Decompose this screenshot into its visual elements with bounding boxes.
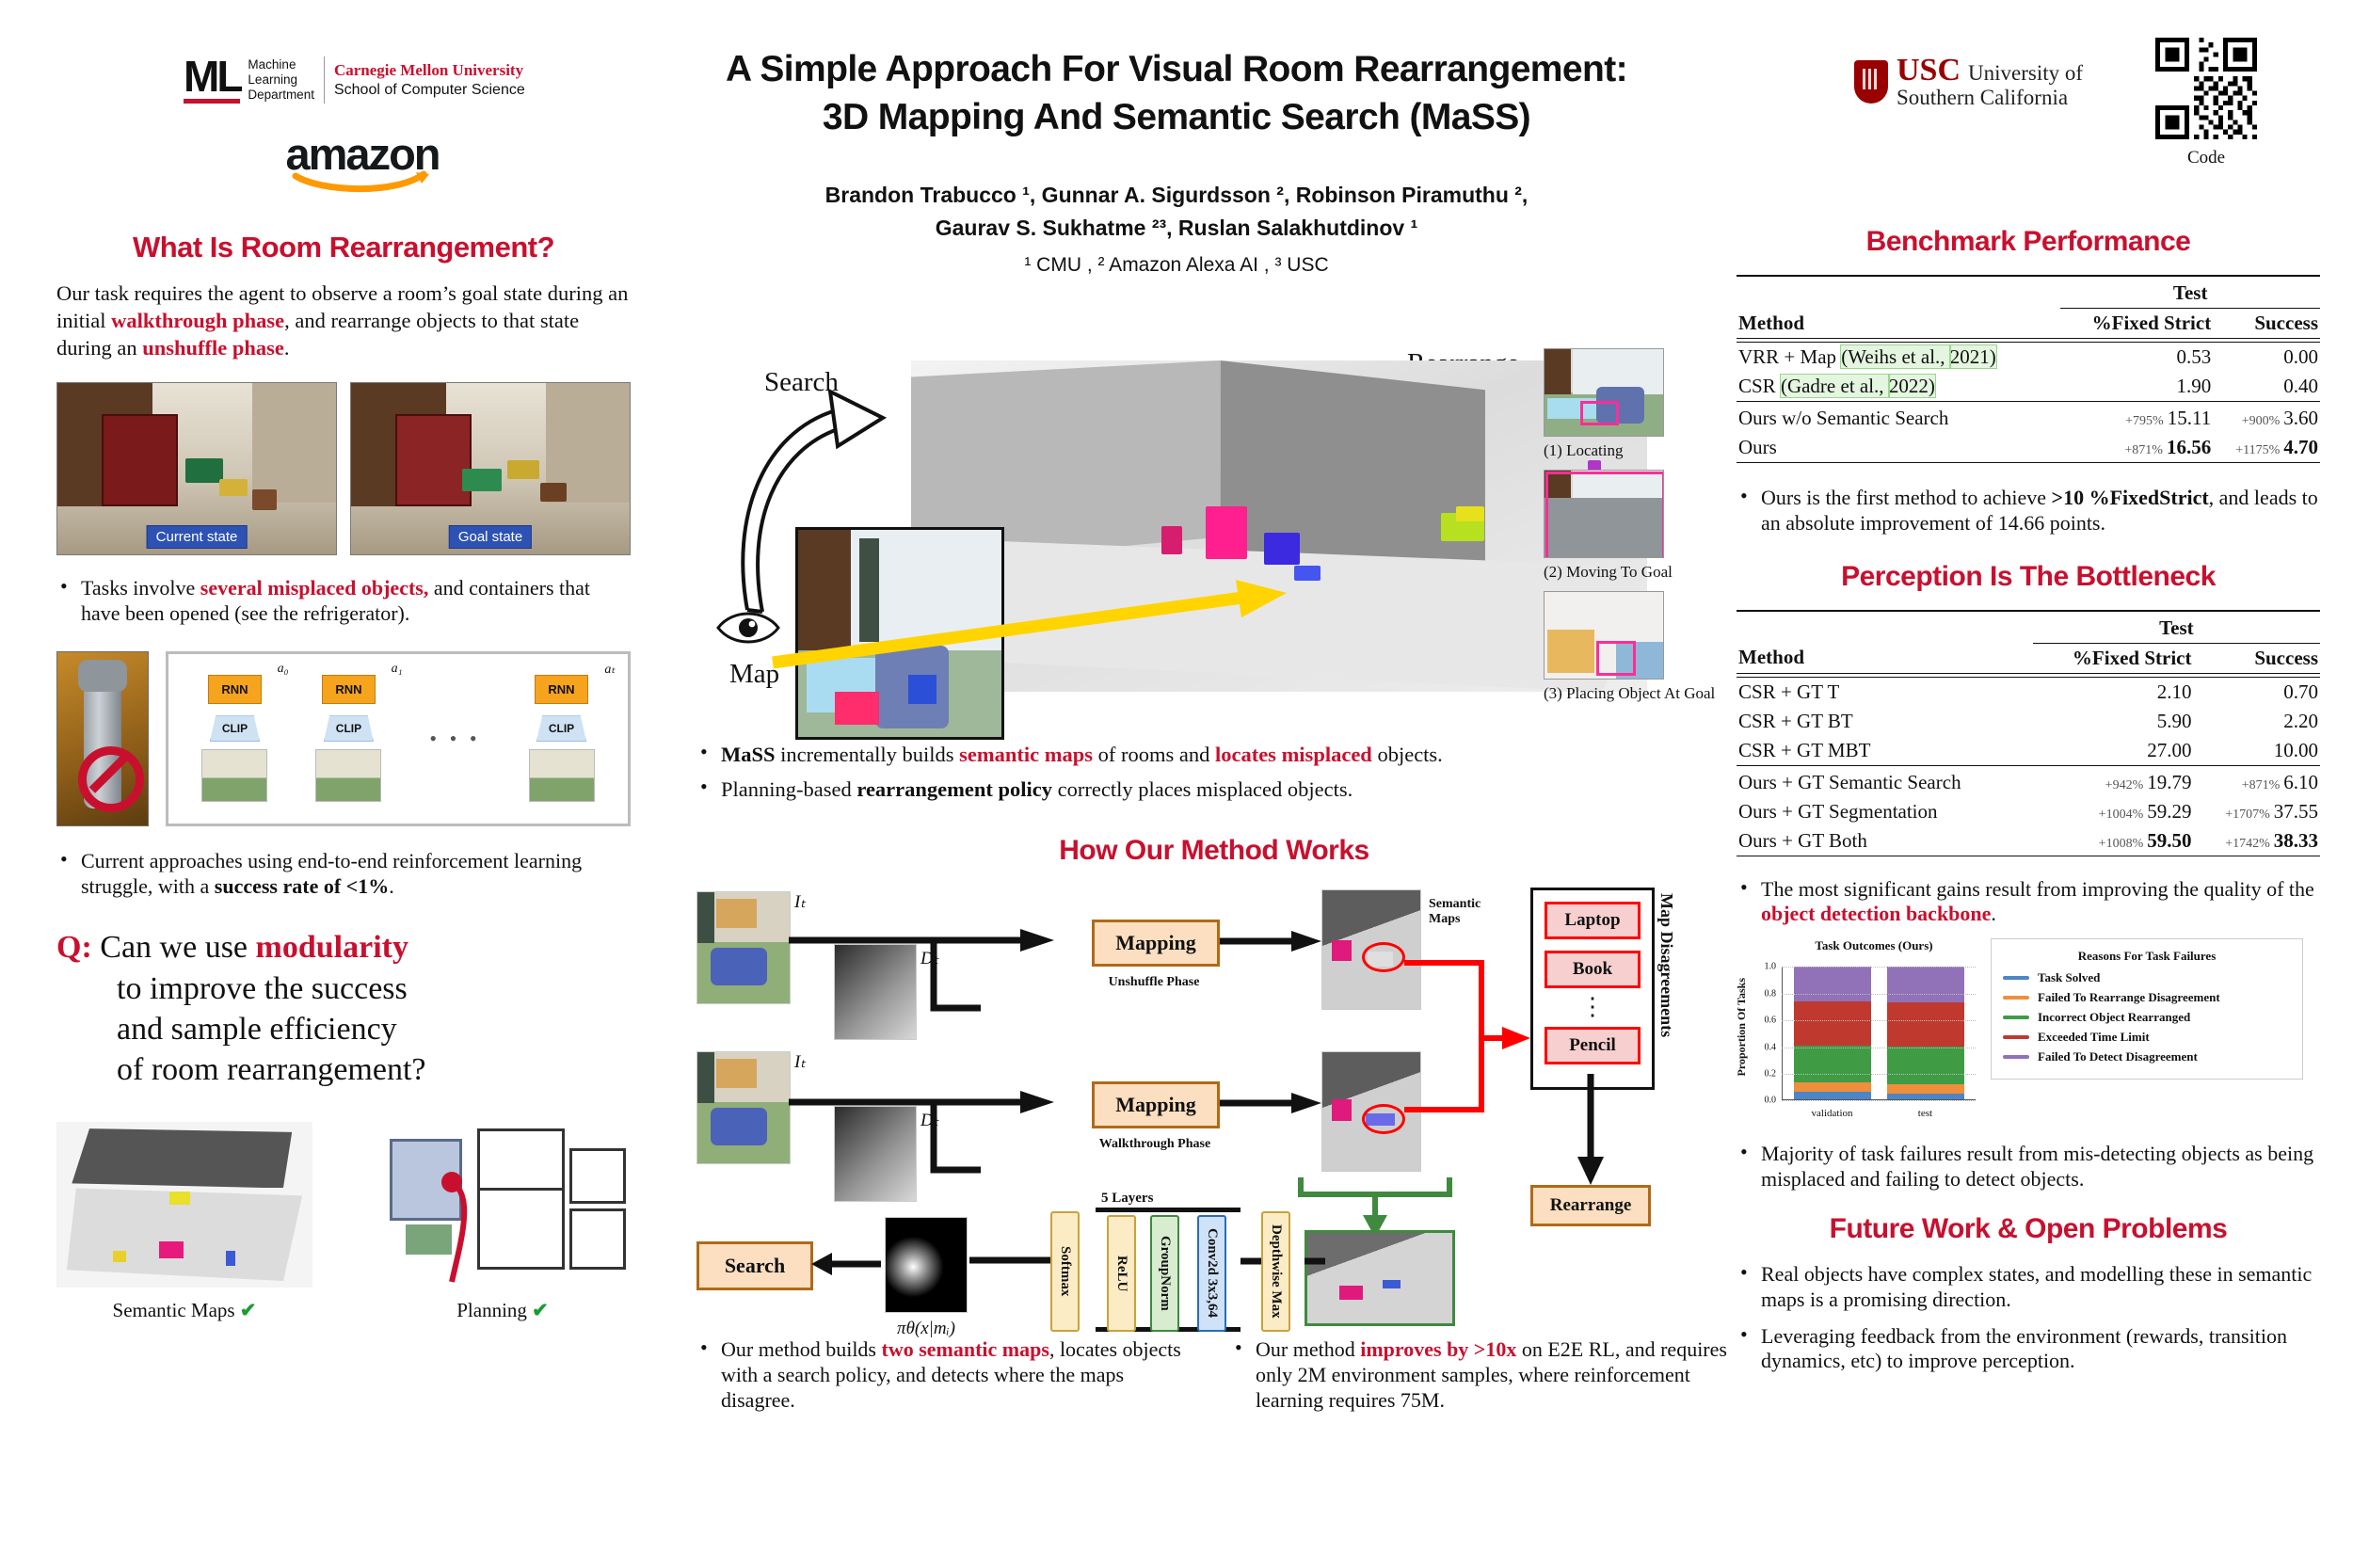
semantic-map-preview-cell: Semantic Maps ✔ [56,1122,312,1322]
step-image-locating [1544,348,1664,437]
disagreement-item-pencil: Pencil [1545,1027,1641,1064]
legend-label: Failed To Detect Disagreement [2038,1049,2198,1064]
usc-university-of: University of [1968,62,2083,85]
rnn-step-t: RNN aₜ CLIP [529,675,595,802]
check-icon: ✔ [532,1299,549,1321]
method-name: CSR + GT MBT [1737,736,2033,766]
usc-shield-icon [1854,60,1888,104]
bottleneck-col-fixed-strict: %Fixed Strict [2033,643,2194,673]
semantic-map-image [56,1122,312,1288]
section-benchmark-performance: Benchmark Performance [1737,226,2320,258]
search-input-map-image [1305,1230,1455,1326]
citation-year: 2021) [1950,345,1996,368]
clip-block: CLIP [210,715,260,742]
chart-segment [1887,967,1964,1002]
disagreement-connector-icon [1401,925,1532,1160]
left-bullet-list-2: Current approaches using end-to-end rein… [56,849,631,900]
cell-success: 0.00 [2213,343,2320,373]
table-row: CSR + GT T 2.10 0.70 [1737,677,2320,707]
chart-segment [1887,1094,1964,1099]
cell-success: 2.20 [2193,707,2320,736]
legend-swatch-icon [2003,1055,2029,1059]
question-marker: Q: [56,930,92,965]
gain-success: +1175% [2235,443,2280,457]
arrow-to-mapping-2 [787,1085,1107,1189]
question-first-line: Q: Can we use modularity [56,927,631,968]
cell-success: 37.55 [2274,800,2318,823]
chart-segment [1794,1092,1871,1099]
middle-bullet-list: MaSS incrementally builds semantic maps … [696,742,1732,803]
question-line-4: of room rearrangement? [117,1049,631,1090]
chart-segment [1887,1002,1964,1047]
ml-department-words: Machine Learning Department [248,56,325,104]
detection-box-icon [1545,472,1664,558]
legend-label: Failed To Rearrange Disagreement [2038,990,2220,1005]
chart-segment [1794,1046,1871,1082]
layer-conv2d: Conv2d 3x3,64 [1197,1215,1226,1332]
layer-depthwise-max: Depthwise Max [1261,1211,1290,1332]
goal-state-label: Goal state [449,525,532,549]
disagreement-highlight-icon [1362,1104,1405,1134]
clip-block: CLIP [536,715,586,742]
table-row: Ours + GT Segmentation +1004%59.29 +1707… [1737,797,2320,826]
mass-name: MaSS [721,743,776,766]
chart-segment [1794,1082,1871,1092]
map-disagreements-box: Laptop Book ⋮ Pencil [1530,888,1655,1091]
ml-word-machine: Machine [248,57,314,72]
bullet1-d: of rooms and [1093,743,1215,766]
chart-legend-title: Reasons For Task Failures [2003,949,2291,964]
policy-heatmap: πθ(x|mᵢ) [885,1217,968,1339]
citation-year: 2022) [1889,375,1935,397]
research-question: Q: Can we use modularity to improve the … [56,927,631,1090]
chart-bars-container [1782,967,1976,1100]
method-name: CSR + GT BT [1737,707,2033,736]
planning-caption: Planning ✔ [375,1299,631,1322]
pipeline-ellipsis: • • • [429,727,480,751]
layer-relu: ReLU [1107,1215,1136,1332]
bullet2-part-c: . [389,874,394,898]
method-name: CSR [1738,375,1781,397]
table-row: VRR + Map (Weihs et al., 2021) 0.53 0.00 [1737,343,2320,373]
chart-bar-validation [1794,967,1871,1099]
semantic-map-caption: Semantic Maps ✔ [56,1299,312,1322]
cell-fixed-strict: 59.50 [2147,829,2191,852]
planning-preview-cell: Planning ✔ [375,1122,631,1322]
gain-success: +871% [2242,778,2281,792]
bullet1-part-a: Tasks involve [81,576,200,600]
bullet-improves-10x: Our method improves by >10x on E2E RL, a… [1231,1337,1732,1413]
bottleneck-col-success: Success [2193,643,2320,673]
rearrange-output-box: Rearrange [1530,1185,1651,1226]
benchmark-col-method: Method [1737,309,2060,339]
result-previews-row: Semantic Maps ✔ [56,1122,631,1322]
rnn-step-0: RNN a₀ CLIP [201,675,267,802]
clip-block: CLIP [324,715,374,742]
usc-acronym: USC [1897,55,1961,87]
chart-gridline [1782,1074,1976,1075]
layer-connector-1 [1241,1255,1263,1268]
observation-symbol-1: Iₜ [794,891,806,913]
cell-success: 0.70 [2193,677,2320,707]
question-line-2: to improve the success [117,968,631,1009]
bullet1-f: objects. [1372,743,1443,766]
current-state-image: Current state [56,382,337,555]
chart-gridline [1782,1048,1976,1048]
chart-gridline [1782,967,1976,968]
map-label: Map [729,659,779,690]
table-row: CSR + GT MBT 27.00 10.00 [1737,736,2320,766]
prohibited-icon [78,746,144,812]
semantic-map-caption-text: Semantic Maps [113,1299,235,1321]
disagreement-item-book: Book [1545,951,1641,988]
benchmark-col-success: Success [2213,309,2320,339]
bullet-misplaced-objects: Tasks involve several misplaced objects,… [56,576,631,627]
qr-code-label: Code [2155,148,2257,168]
bullet-leveraging-feedback: Leveraging feedback from the environment… [1737,1324,2320,1375]
step-image-placing [1544,591,1664,680]
goal-state-image: Goal state [350,382,631,555]
object-detection-backbone-highlight: object detection backbone [1761,902,1991,925]
pbullet-a: The most significant gains result from i… [1761,877,2314,901]
table-row: CSR + GT BT 5.90 2.20 [1737,707,2320,736]
two-semantic-maps-highlight: two semantic maps [882,1337,1049,1361]
poster-root: ML Machine Learning Department Carnegie … [0,0,2353,1568]
bullet4-a: Our method [1256,1337,1360,1361]
disagreement-highlight-icon [1362,942,1405,972]
gain-success: +1742% [2225,837,2270,851]
table-row: Ours +871%16.56 +1175%4.70 [1737,433,2320,463]
benchmark-bullets: Ours is the first method to achieve >10 … [1737,486,2320,536]
citation-author: (Gadre et al., [1781,375,1889,397]
intro-part-e: . [284,336,290,360]
method-name: VRR + Map [1738,345,1841,368]
state-images-row: Current state Goal state [56,382,631,555]
chart-gridline [1782,994,1976,995]
rnn-block: RNN [208,675,261,704]
bullet2-a: Planning-based [721,777,856,801]
author-list: Brandon Trabucco ¹, Gunnar A. Sigurdsson… [565,179,1788,244]
layer-connector-2 [1305,1255,1325,1268]
search-output-box: Search [696,1241,813,1290]
gain-fixed: +942% [2105,778,2144,792]
left-bullet-list-1: Tasks involve several misplaced objects,… [56,576,631,627]
chart-y-axis-label: Proportion Of Tasks [1735,978,1749,1076]
rgb-observation-image [696,1051,791,1164]
e2e-rl-figure: RNN a₀ CLIP RNN a₁ CLIP • • • RNN aₜ CLI… [56,651,631,826]
table-row: CSR (Gadre et al., 2022) 1.90 0.40 [1737,372,2320,402]
observation-symbol-2: Iₜ [794,1051,806,1073]
cmu-wordmark: Carnegie Mellon University School of Com… [334,60,525,99]
chart-legend: Reasons For Task Failures Task SolvedFai… [1991,938,2303,1080]
chart-bar-test [1887,967,1964,1099]
section-future-work: Future Work & Open Problems [1737,1213,2320,1245]
improves-10x-highlight: improves by >10x [1360,1337,1516,1361]
cmu-school-name: School of Computer Science [334,81,525,100]
locates-misplaced-highlight: locates misplaced [1215,743,1372,766]
check-icon: ✔ [240,1299,257,1321]
benchmark-table: Test Method %Fixed Strict Success VRR + … [1737,275,2320,465]
observation-thumbnail [529,749,595,802]
chart-y-tick: 0.4 [1752,1042,1776,1052]
rnn-block: RNN [535,675,587,704]
ml-word-learning: Learning [248,72,314,88]
method-bullet-right: Our method improves by >10x on E2E RL, a… [1231,1337,1732,1424]
method-summary-bullets: Our method builds two semantic maps, loc… [696,1337,1732,1424]
cell-success: 6.10 [2283,771,2318,793]
chart-title: Task Outcomes (Ours) [1769,938,1979,953]
legend-swatch-icon [2003,1016,2029,1019]
walkthrough-observation [696,1051,791,1164]
gain-fixed: +795% [2125,414,2164,428]
chart-legend-item: Incorrect Object Rearranged [2003,1010,2291,1025]
cell-fixed-strict: 2.10 [2033,677,2194,707]
benchmark-col-fixed-strict: %Fixed Strict [2060,309,2213,339]
cell-fixed-strict: 1.90 [2060,372,2213,402]
usc-logo: USC University of Southern California [1854,55,2083,109]
cell-fixed-strict: 0.53 [2060,343,2213,373]
chart-legend-item: Exceeded Time Limit [2003,1030,2291,1045]
qr-code-block[interactable]: Code [2155,38,2257,168]
policy-heatmap-image [885,1217,968,1313]
observation-thumbnail [315,749,381,802]
bullet1-highlight: several misplaced objects, [200,576,429,600]
chart-legend-item: Failed To Detect Disagreement [2003,1049,2291,1064]
arrow-policy-to-search [811,1251,883,1277]
chart-legend-item: Task Solved [2003,970,2291,985]
table-row: Ours w/o Semantic Search +795%15.11 +900… [1737,404,2320,433]
bottleneck-table: Test Method %Fixed Strict Success CSR + … [1737,610,2320,858]
chart-bullets: Majority of task failures result from mi… [1737,1142,2320,1192]
amazon-logo: amazon [254,132,471,193]
rearrange-steps-column: (1) Locating (2) Moving To Goal (3) Plac… [1544,348,1668,712]
bullet-first-method: Ours is the first method to achieve >10 … [1737,486,2320,536]
egocentric-rgb-observation [795,527,1004,740]
walkthrough-phase-caption: Walkthrough Phase [1077,1137,1233,1152]
chart-legend-rows: Task SolvedFailed To Rearrange Disagreem… [2003,970,2291,1064]
legend-swatch-icon [2003,996,2029,1000]
3d-semantic-map-render [911,360,1647,692]
step-caption-2: (2) Moving To Goal [1544,563,1668,582]
future-work-bullets: Real objects have complex states, and mo… [1737,1262,2320,1374]
left-column: What Is Room Rearrangement? Our task req… [56,231,631,1322]
authors-line-2: Gaurav S. Sukhatme ²³, Ruslan Salakhutdi… [565,212,1788,245]
unshuffle-observation [696,891,791,1004]
cmu-ml-logo: ML Machine Learning Department Carnegie … [184,52,541,108]
chart-segment [1794,967,1871,1001]
arrow-to-rearrange [1572,1074,1609,1187]
task-outcomes-chart: Task Outcomes (Ours) Proportion Of Tasks… [1737,938,2320,1125]
section-perception-is-the-bottleneck: Perception Is The Bottleneck [1737,561,2320,593]
middle-column: MaSS incrementally builds semantic maps … [696,725,1732,1424]
cell-success: 0.40 [2213,372,2320,402]
gain-fixed: +1008% [2099,837,2144,851]
chart-y-tick: 0.0 [1752,1096,1776,1106]
cell-fixed-strict: 19.79 [2147,771,2191,793]
rearrangement-policy-highlight: rearrangement policy [856,777,1052,801]
chart-x-tick: test [1918,1108,1932,1119]
observation-thumbnail [201,749,267,802]
affiliations: ¹ CMU , ² Amazon Alexa AI , ³ USC [565,254,1788,277]
intro-paragraph: Our task requires the agent to observe a… [56,280,631,361]
bullet2-highlight: success rate of <1% [215,874,389,898]
cell-fixed-strict: 15.11 [2168,407,2211,429]
arrow-mapping-to-map-2 [1220,1089,1323,1117]
poster-title: A Simple Approach For Visual Room Rearra… [565,45,1788,142]
rgb-observation-image [696,891,791,1004]
fixedstrict-highlight: >10 %FixedStrict [2052,486,2209,509]
question-line-3: and sample efficiency [117,1009,631,1049]
current-state-label: Current state [147,525,248,549]
bullet2-c: correctly places misplaced objects. [1052,777,1353,801]
mapping-block-walkthrough: Mapping [1092,1081,1220,1128]
rnn-step-1: RNN a₁ CLIP [315,675,381,802]
legend-label: Task Solved [2038,970,2100,985]
planning-map-image [375,1122,631,1288]
bullet-success-rate: Current approaches using end-to-end rein… [56,849,631,900]
table-row: Ours + GT Semantic Search +942%19.79 +87… [1737,768,2320,797]
pbullet-c: . [1991,902,1996,925]
bullet3-a: Our method builds [721,1337,882,1361]
cell-fixed-strict: 16.56 [2167,436,2211,458]
method-name: Ours + GT Semantic Search [1737,768,2033,797]
method-pipeline-diagram: Iₜ Dₜ Mapping Unshuffle Phase [696,880,1694,1332]
gain-fixed: +1004% [2099,808,2144,822]
robot-photo [56,651,149,826]
mapping-block-unshuffle: Mapping [1092,920,1220,967]
disagreement-item-laptop: Laptop [1545,902,1641,939]
bullet1-b: incrementally builds [776,743,960,766]
arrow-mapping-to-map-1 [1220,927,1323,955]
semantic-maps-highlight: semantic maps [959,743,1093,766]
intro-walkthrough-phase: walkthrough phase [111,309,284,332]
action-label-0: a₀ [278,662,289,677]
legend-label: Incorrect Object Rearranged [2038,1010,2190,1025]
bullet-mass-semantic-maps: MaSS incrementally builds semantic maps … [696,742,1732,767]
cell-fixed-strict: 27.00 [2033,736,2194,766]
step-image-moving [1544,470,1664,558]
bullet-rearrangement-policy: Planning-based rearrangement policy corr… [696,776,1732,802]
action-label-t: aₜ [604,662,615,678]
five-layers-label: 5 Layers [1101,1191,1153,1207]
legend-swatch-icon [2003,1035,2029,1039]
chart-gridline [1782,1100,1976,1101]
cell-success: 10.00 [2193,736,2320,766]
cell-success: 4.70 [2283,436,2318,458]
cmu-university-name: Carnegie Mellon University [334,60,525,80]
cell-fixed-strict: 59.29 [2147,800,2191,823]
unshuffle-phase-caption: Unshuffle Phase [1080,975,1227,990]
chart-gridline [1782,1020,1976,1021]
qr-code-icon[interactable] [2155,38,2257,139]
ml-monogram: ML [184,56,240,104]
gain-fixed: +871% [2124,443,2163,457]
table-row: Ours + GT Both +1008%59.50 +1742%38.33 [1737,826,2320,856]
method-name: Ours + GT Both [1737,826,2033,856]
section-how-our-method-works: How Our Method Works [696,835,1732,867]
chart-y-tick: 0.8 [1752,988,1776,999]
cell-success: 3.60 [2283,407,2318,429]
disagreement-ellipsis: ⋮ [1533,1000,1652,1015]
cell-fixed-strict: 5.90 [2033,707,2194,736]
layer-groupnorm: GroupNorm [1150,1215,1179,1332]
layer-softmax: Softmax [1050,1211,1080,1332]
authors-line-1: Brandon Trabucco ¹, Gunnar A. Sigurdsson… [565,179,1788,212]
chart-x-tick: validation [1812,1108,1853,1119]
legend-label: Exceeded Time Limit [2038,1030,2150,1045]
title-line-1: A Simple Approach For Visual Room Rearra… [565,45,1788,93]
chart-segment [1794,1001,1871,1046]
chart-plot-area: Proportion Of Tasks 0.00.20.40.60.81.0va… [1737,953,1979,1125]
ml-word-department: Department [248,88,314,103]
gain-success: +1707% [2225,808,2270,822]
cell-success: 38.33 [2274,829,2318,852]
map-disagreements-label: Map Disagreements [1657,893,1676,1037]
method-name: Ours [1737,433,2060,463]
chart-segment [1887,1084,1964,1094]
planning-caption-text: Planning [456,1299,527,1321]
step-caption-3: (3) Placing Object At Goal [1544,684,1668,703]
rnn-block: RNN [322,675,375,704]
section-what-is-room-rearrangement: What Is Room Rearrangement? [56,231,631,264]
benchmark-group-test: Test [2060,279,2320,309]
legend-swatch-icon [2003,976,2029,980]
chart-y-tick: 0.2 [1752,1068,1776,1079]
policy-formula: πθ(x|mᵢ) [885,1319,968,1339]
bottleneck-group-test: Test [2033,614,2320,644]
method-bullet-left: Our method builds two semantic maps, loc… [696,1337,1197,1424]
method-name: CSR + GT T [1737,677,2033,707]
amazon-wordmark: amazon [254,132,471,176]
detection-box-icon [1580,401,1619,425]
intro-unshuffle-phase: unshuffle phase [142,336,284,360]
arrow-to-mapping-1 [787,923,1107,1027]
method-name: Ours + GT Segmentation [1737,797,2033,826]
question-modularity: modularity [256,930,408,965]
semantic-maps-label-l1: Semantic [1429,897,1513,912]
bullet-majority-failures: Majority of task failures result from mi… [1737,1142,2320,1192]
chart-y-tick: 1.0 [1752,962,1776,972]
rnn-clip-pipeline: RNN a₀ CLIP RNN a₁ CLIP • • • RNN aₜ CLI… [166,651,631,826]
detection-box-icon [1596,641,1635,676]
bullet-real-objects: Real objects have complex states, and mo… [1737,1262,2320,1313]
semantic-maps-label: Semantic Maps [1429,897,1513,927]
chart-y-tick: 0.6 [1752,1016,1776,1026]
bottleneck-col-method: Method [1737,643,2033,673]
method-name: Ours w/o Semantic Search [1737,404,2060,433]
action-label-1: a₁ [392,662,403,677]
step-caption-1: (1) Locating [1544,441,1668,460]
bullet-two-semantic-maps: Our method builds two semantic maps, loc… [696,1337,1197,1413]
question-part-a: Can we use [100,930,255,965]
chart-segment [1887,1047,1964,1084]
title-line-2: 3D Mapping And Semantic Search (MaSS) [565,93,1788,141]
right-column: Benchmark Performance Test Method %Fixed… [1737,226,2320,1385]
amazon-smile-icon [292,170,433,193]
citation-author: (Weihs et al., [1841,345,1950,368]
arrow-softmax-to-heatmap [969,1251,1050,1270]
bullet-detection-backbone: The most significant gains result from i… [1737,877,2320,928]
chart-legend-item: Failed To Rearrange Disagreement [2003,990,2291,1005]
bbullet-a: Ours is the first method to achieve [1761,486,2052,509]
gain-success: +900% [2242,414,2281,428]
bottleneck-bullets: The most significant gains result from i… [1737,877,2320,928]
usc-southern-california: Southern California [1897,87,2083,109]
